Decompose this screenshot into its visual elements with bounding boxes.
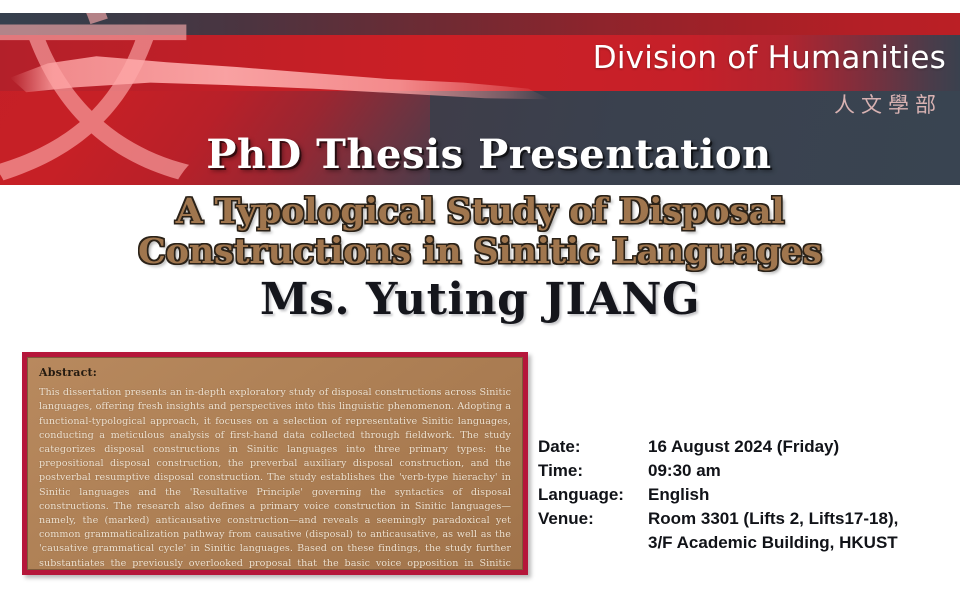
abstract-box: Abstract: This dissertation presents an … <box>22 352 528 575</box>
division-name-english: Division of Humanities <box>593 43 946 74</box>
poster-root: 文 Division of Humanities 人文學部 PhD Thesis… <box>0 0 960 600</box>
event-type-heading: PhD Thesis Presentation <box>0 135 960 175</box>
detail-row-date: Date: 16 August 2024 (Friday) <box>538 435 950 459</box>
detail-row-language: Language: English <box>538 483 950 507</box>
abstract-heading: Abstract: <box>39 367 511 379</box>
division-name-chinese: 人文學部 <box>834 95 942 116</box>
detail-label-language: Language: <box>538 483 648 507</box>
detail-label-venue: Venue: <box>538 507 648 531</box>
detail-row-venue: Venue: Room 3301 (Lifts 2, Lifts17-18), <box>538 507 950 531</box>
abstract-box-inner: Abstract: This dissertation presents an … <box>27 357 523 570</box>
banner-top-gradient-cap <box>0 13 960 35</box>
thesis-title-line-1: A Typological Study of Disposal <box>0 192 960 232</box>
thesis-title-line-2: Constructions in Sinitic Languages <box>0 232 960 272</box>
detail-label-date: Date: <box>538 435 648 459</box>
detail-value-date: 16 August 2024 (Friday) <box>648 435 950 459</box>
abstract-body-text: This dissertation presents an in-depth e… <box>39 386 511 570</box>
detail-value-language: English <box>648 483 950 507</box>
detail-value-venue: Room 3301 (Lifts 2, Lifts17-18), <box>648 507 950 531</box>
detail-row-time: Time: 09:30 am <box>538 459 950 483</box>
speaker-name: Ms. Yuting JIANG <box>0 278 960 322</box>
detail-value-time: 09:30 am <box>648 459 950 483</box>
detail-label-time: Time: <box>538 459 648 483</box>
event-details-block: Date: 16 August 2024 (Friday) Time: 09:3… <box>538 435 950 555</box>
header-banner: 文 Division of Humanities 人文學部 PhD Thesis… <box>0 13 960 185</box>
detail-value-venue-line2: 3/F Academic Building, HKUST <box>648 531 950 555</box>
thesis-title: A Typological Study of Disposal Construc… <box>0 192 960 272</box>
